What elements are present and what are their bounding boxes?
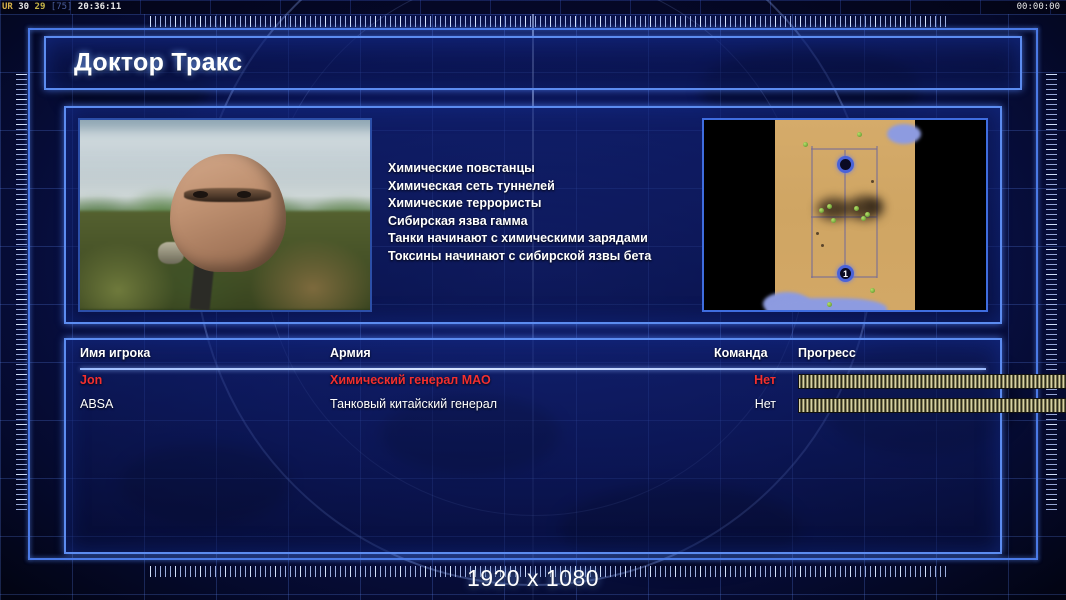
- player-list-header: Имя игрока Армия Команда Прогресс: [80, 346, 986, 366]
- general-info-panel: Химические повстанцы Химическая сеть тун…: [64, 106, 1002, 324]
- ruler-top: [150, 16, 950, 27]
- status-bar: UR 30 29 [75] 20:36:11 00:00:00: [0, 0, 1066, 14]
- cell-army: Химический генерал МАО: [330, 373, 491, 387]
- player-rows: Jon Химический генерал МАО Нет ABSA Танк…: [80, 370, 986, 418]
- table-row[interactable]: Jon Химический генерал МАО Нет: [80, 370, 986, 394]
- status-token-time: 20:36:11: [78, 2, 121, 12]
- general-portrait: [78, 118, 372, 312]
- status-token-bracket: [75]: [51, 2, 73, 12]
- ability-item: Сибирская язва гамма: [388, 213, 718, 231]
- player-list-panel: Имя игрока Армия Команда Прогресс Jon Хи…: [64, 338, 1002, 554]
- column-header-player-name: Имя игрока: [80, 346, 150, 360]
- ability-item: Танки начинают с химическими зарядами: [388, 230, 718, 248]
- status-token-ping: 29: [35, 2, 46, 12]
- status-token-ur: UR: [2, 2, 13, 12]
- frame-top: [28, 28, 1038, 30]
- map-terrain: 1: [775, 120, 915, 310]
- cell-army: Танковый китайский генерал: [330, 397, 497, 411]
- cell-team: Нет: [714, 397, 776, 411]
- page-title: Доктор Тракс: [74, 49, 242, 78]
- status-bar-left: UR 30 29 [75] 20:36:11: [2, 0, 121, 14]
- column-header-team: Команда: [714, 346, 768, 360]
- column-header-progress: Прогресс: [798, 346, 856, 360]
- map-preview[interactable]: 1: [702, 118, 988, 312]
- cell-team: Нет: [714, 373, 776, 387]
- frame-bottom: [28, 558, 1038, 560]
- progress-bar: [798, 398, 1066, 413]
- resolution-label: 1920 x 1080: [0, 565, 1066, 592]
- general-ability-list: Химические повстанцы Химическая сеть тун…: [388, 160, 718, 265]
- ruler-right: [1046, 74, 1057, 514]
- frame-left: [28, 28, 30, 560]
- cell-player-name: ABSA: [80, 397, 113, 411]
- ability-item: Химические террористы: [388, 195, 718, 213]
- cell-player-name: Jon: [80, 373, 102, 387]
- column-header-army: Армия: [330, 346, 371, 360]
- status-token-fps: 30: [18, 2, 29, 12]
- table-row[interactable]: ABSA Танковый китайский генерал Нет: [80, 394, 986, 418]
- ability-item: Химическая сеть туннелей: [388, 178, 718, 196]
- map-start-position[interactable]: 1: [837, 265, 854, 282]
- progress-bar: [798, 374, 1066, 389]
- frame-right: [1036, 28, 1038, 560]
- ability-item: Токсины начинают с сибирской язвы бета: [388, 248, 718, 266]
- ruler-left: [16, 74, 27, 514]
- map-start-position[interactable]: [837, 156, 854, 173]
- title-panel: Доктор Тракс: [44, 36, 1022, 90]
- ability-item: Химические повстанцы: [388, 160, 718, 178]
- status-bar-clock: 00:00:00: [1017, 0, 1060, 14]
- game-screen: UR 30 29 [75] 20:36:11 00:00:00 Доктор Т…: [0, 0, 1066, 600]
